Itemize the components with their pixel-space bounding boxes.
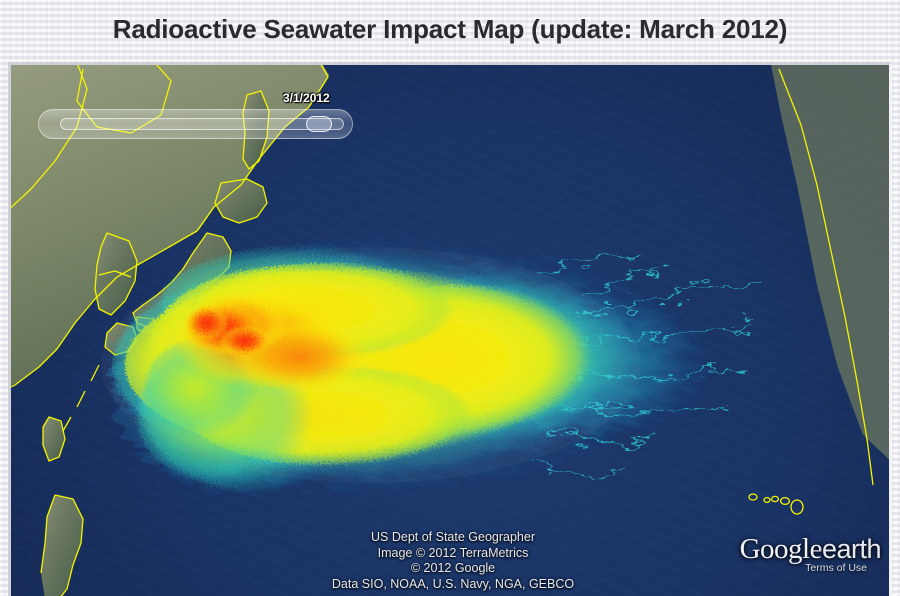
- google-earth-viewport[interactable]: 3/1/2012 US Dept of State Geographer Ima…: [11, 65, 889, 596]
- hawaiian-islands: [749, 494, 803, 514]
- border-ryukyu-chain: [63, 365, 99, 431]
- google-earth-logo: Googleearth Terms of Use: [740, 534, 881, 574]
- map-overlay: [11, 65, 889, 596]
- land-north-america: [771, 65, 889, 465]
- page-title: Radioactive Seawater Impact Map (update:…: [0, 0, 900, 60]
- google-earth-wordmark: Googleearth: [740, 534, 881, 564]
- time-slider-date-label: 3/1/2012: [283, 91, 330, 105]
- time-slider-thumb[interactable]: [306, 116, 332, 132]
- google-wordmark-text: Google: [740, 533, 822, 565]
- radioactive-plume-heatmap: [101, 237, 753, 495]
- map-frame: 3/1/2012 US Dept of State Geographer Ima…: [8, 62, 892, 596]
- earth-wordmark-text: earth: [822, 534, 881, 564]
- time-slider[interactable]: 3/1/2012: [38, 109, 353, 139]
- time-slider-track[interactable]: [60, 118, 344, 130]
- land-philippines: [41, 495, 83, 596]
- plume-grain: [101, 247, 641, 483]
